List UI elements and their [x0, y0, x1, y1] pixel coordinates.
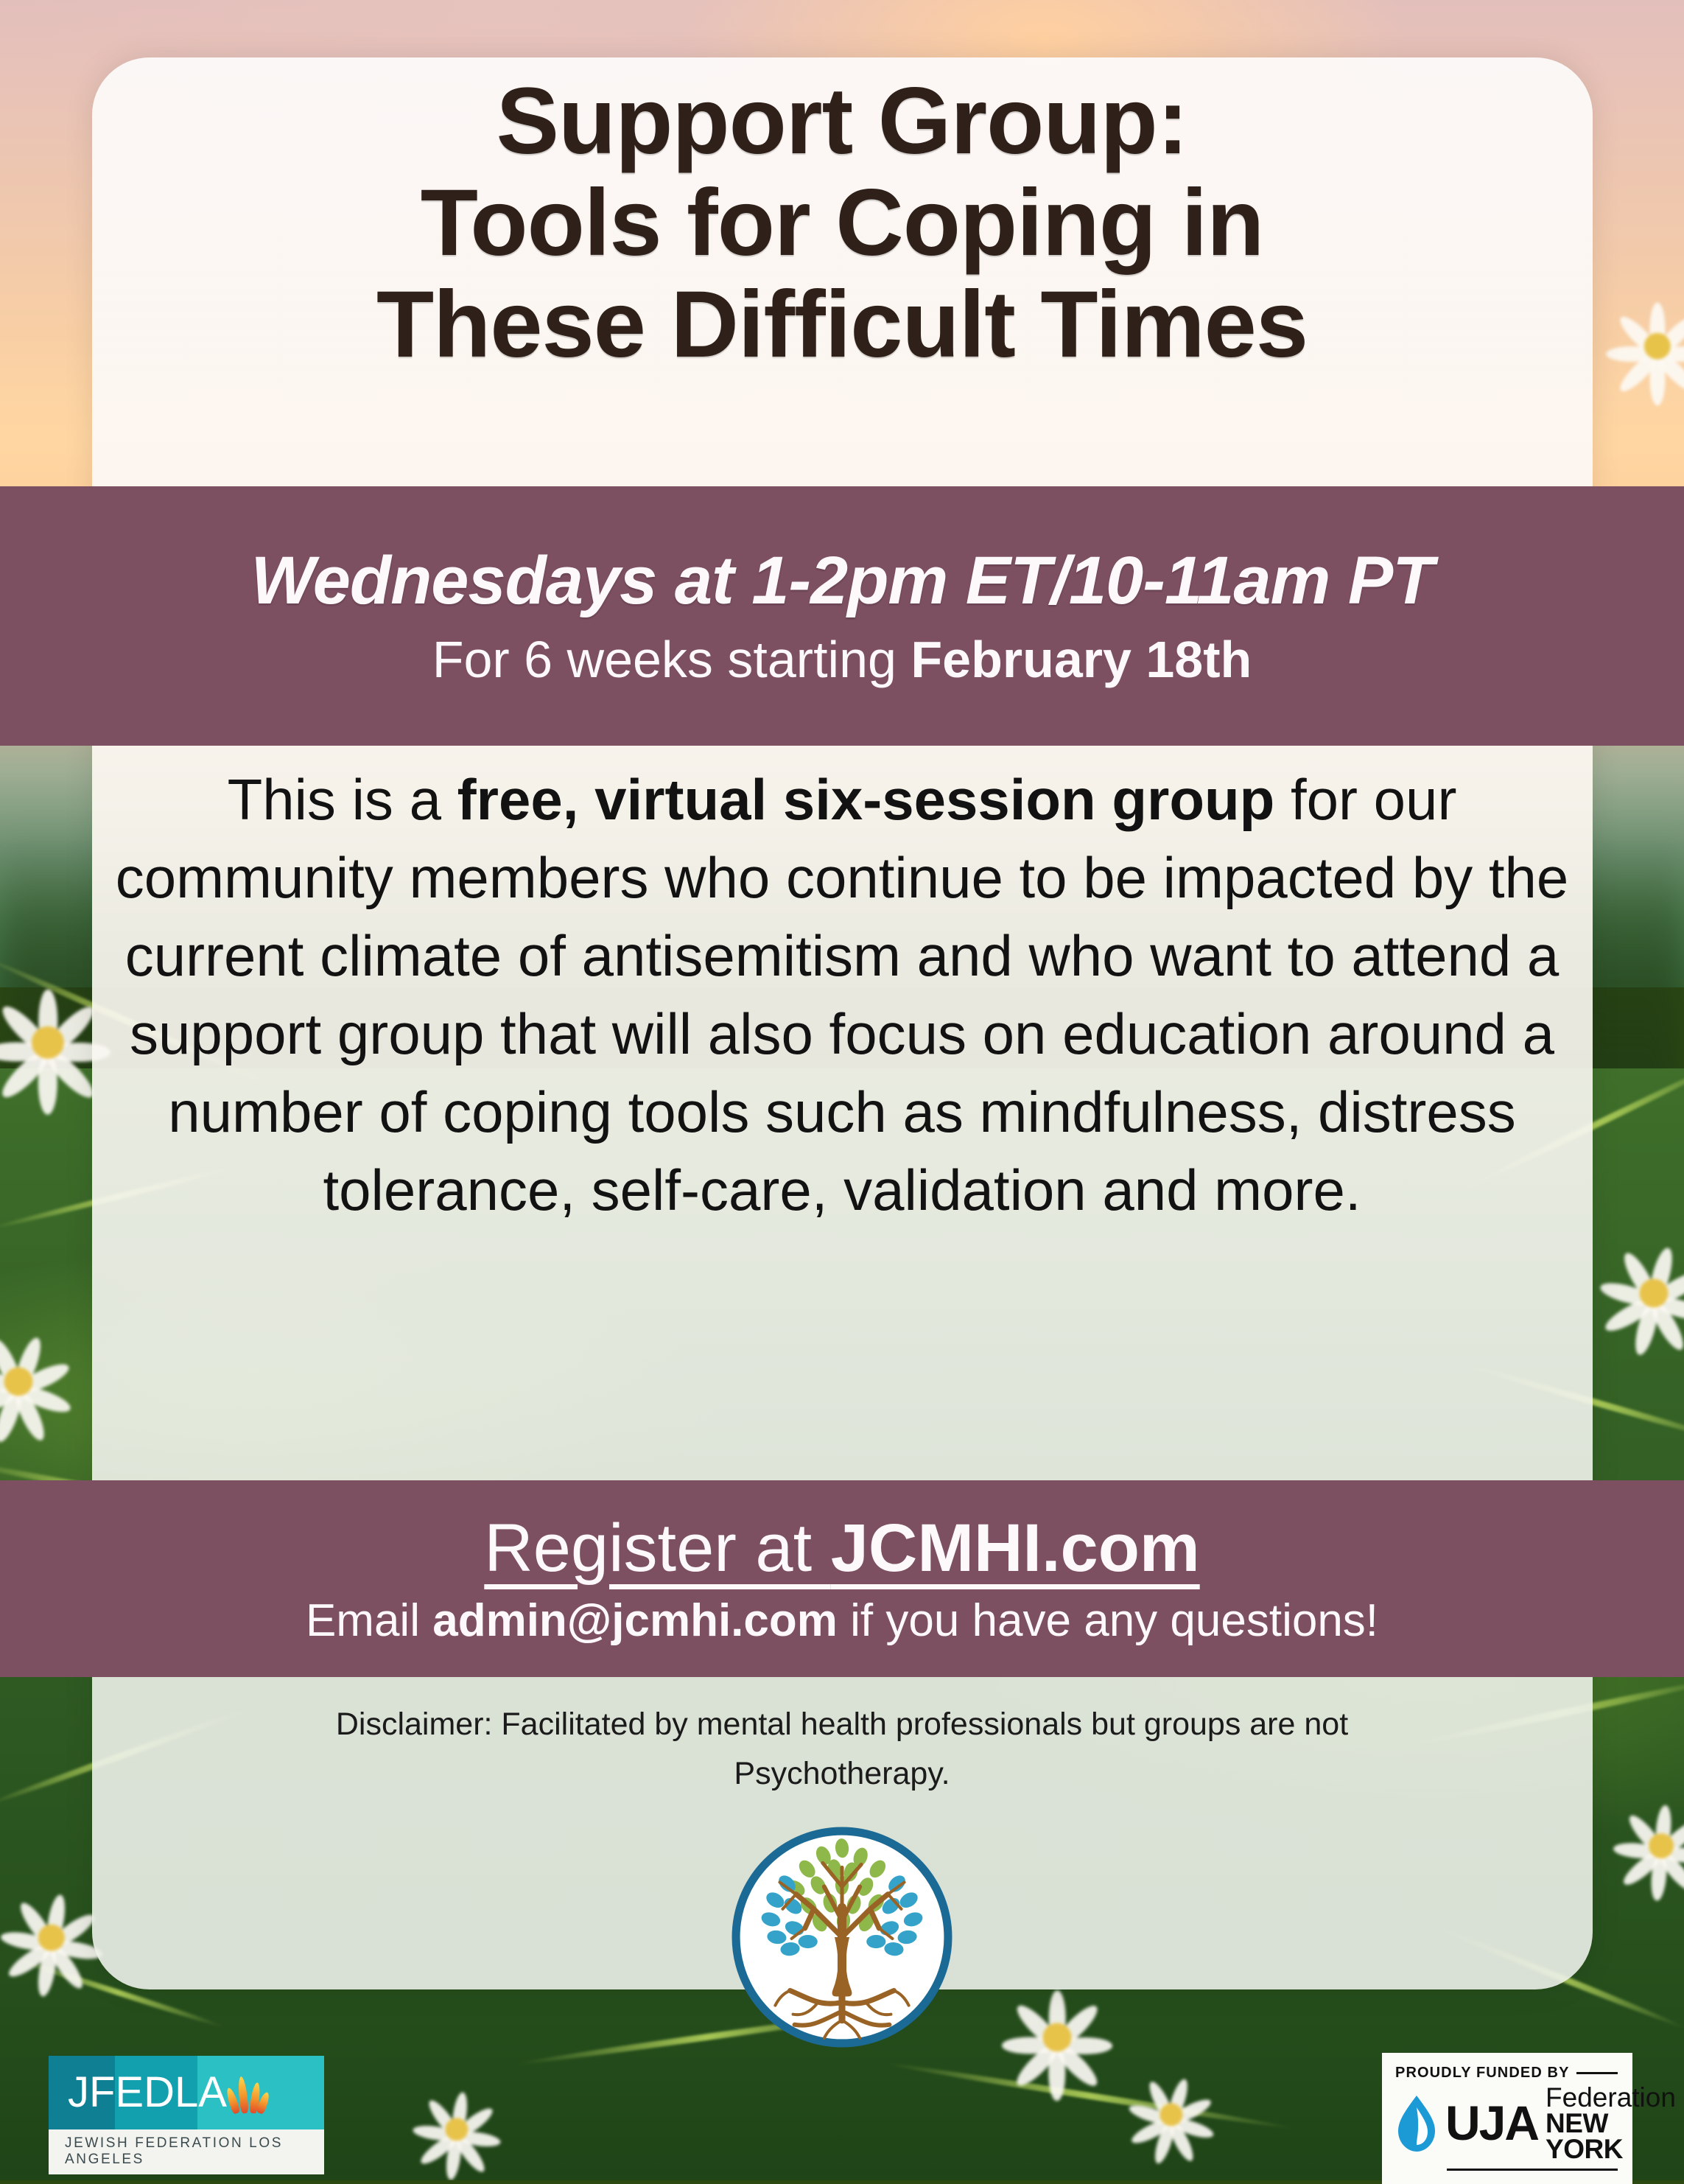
uja-mark-row: UJA Federation NEW YORK	[1395, 2085, 1618, 2162]
email-suffix: if you have any questions!	[838, 1595, 1378, 1646]
uja-federation-block: Federation NEW YORK	[1546, 2085, 1676, 2162]
duration-prefix: For 6 weeks starting	[432, 631, 911, 688]
uja-federation-word: Federation	[1546, 2085, 1676, 2110]
description-lead: This is a	[228, 767, 457, 832]
register-prefix: Register at	[484, 1511, 830, 1586]
email-prefix: Email	[306, 1595, 432, 1646]
schedule-band: Wednesdays at 1-2pm ET/10-11am PT For 6 …	[0, 486, 1684, 746]
disclaimer-text: Disclaimer: Facilitated by mental health…	[236, 1700, 1448, 1798]
title-line-3: These Difficult Times	[0, 274, 1684, 376]
description-rest: for our community members who continue t…	[116, 767, 1569, 1222]
jfedla-wordmark: JFEDLA	[68, 2071, 227, 2114]
register-site[interactable]: JCMHI.com	[831, 1511, 1200, 1586]
uja-region-word: NEW YORK	[1546, 2110, 1676, 2162]
jfedla-tagline: JEWISH FEDERATION LOS ANGELES	[49, 2129, 324, 2174]
schedule-duration: For 6 weeks starting February 18th	[432, 634, 1252, 685]
page-title: Support Group: Tools for Coping in These…	[0, 71, 1684, 377]
register-band[interactable]: Register at JCMHI.com Email admin@jcmhi.…	[0, 1480, 1684, 1677]
uja-federation-logo: PROUDLY FUNDED BY UJA Federation NEW YOR…	[1382, 2053, 1632, 2184]
description-paragraph: This is a free, virtual six-session grou…	[110, 760, 1574, 1229]
jfedla-plate: JFEDLA	[49, 2056, 324, 2129]
uja-bottom-rule	[1447, 2169, 1618, 2171]
contact-email-line[interactable]: Email admin@jcmhi.com if you have any qu…	[306, 1598, 1378, 1644]
uja-funded-by-line: PROUDLY FUNDED BY	[1395, 2065, 1618, 2082]
uja-funded-by-text: PROUDLY FUNDED BY	[1395, 2065, 1570, 2082]
register-link[interactable]: Register at JCMHI.com	[484, 1514, 1199, 1582]
tree-of-life-icon	[731, 1826, 953, 2048]
flame-drop-icon	[1395, 2094, 1438, 2153]
description-highlight: free, virtual six-session group	[457, 767, 1275, 832]
schedule-time: Wednesdays at 1-2pm ET/10-11am PT	[251, 547, 1434, 615]
uja-acronym: UJA	[1445, 2101, 1538, 2146]
uja-top-rule	[1576, 2072, 1618, 2074]
start-date: February 18th	[911, 631, 1252, 688]
email-address[interactable]: admin@jcmhi.com	[432, 1595, 838, 1646]
flame-icon	[233, 2072, 262, 2113]
title-line-2: Tools for Coping in	[0, 172, 1684, 274]
jfedla-logo: JFEDLA JEWISH FEDERATION LOS ANGELES	[49, 2056, 324, 2174]
title-line-1: Support Group:	[0, 71, 1684, 172]
